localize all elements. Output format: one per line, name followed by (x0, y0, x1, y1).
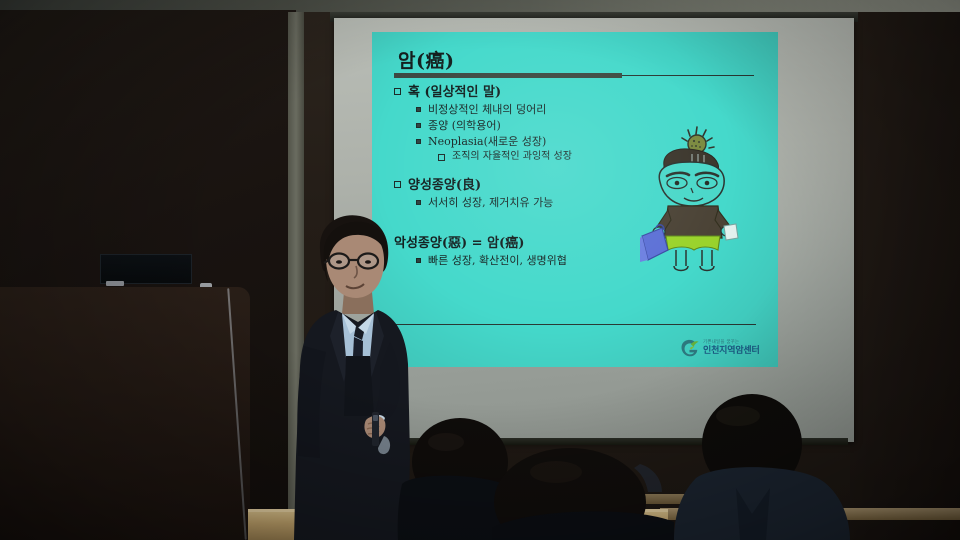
bullet-text: 빠른 성장, 확산전이, 생명위협 (428, 253, 567, 268)
lecture-hall-scene: 암(癌) 혹 (일상적인 말) 비정상적인 체내의 덩어리 종양 (의학용어) … (0, 0, 960, 540)
monitor-label (106, 281, 124, 286)
solid-square-icon (416, 139, 421, 144)
audience-member-3 (674, 392, 864, 540)
title-rule-thick (394, 73, 622, 78)
bullet-item: 비정상적인 체내의 덩어리 (416, 102, 694, 117)
bullet-text: 양성종양(良) (408, 177, 481, 194)
logo-name: 인천지역암센터 (703, 347, 760, 356)
bullet-item: 혹 (일상적인 말) (394, 84, 694, 101)
solid-square-icon (416, 107, 421, 112)
right-wall (850, 12, 960, 540)
projected-slide: 암(癌) 혹 (일상적인 말) 비정상적인 체내의 덩어리 종양 (의학용어) … (372, 32, 778, 367)
audience-member-2 (488, 446, 678, 540)
bullet-text: 조직의 자율적인 과잉적 성장 (452, 150, 572, 164)
title-rule-thin (622, 75, 754, 76)
logo-mark-icon (678, 337, 700, 359)
slide-bottom-rule (394, 324, 756, 325)
lectern-body (0, 287, 250, 540)
bullet-text: 비정상적인 체내의 덩어리 (428, 102, 546, 117)
solid-square-icon (416, 123, 421, 128)
organization-logo: 기쁜내일을 꿈꾸는 인천지역암센터 (678, 333, 770, 363)
bullet-text: 서서히 성장, 제거치유 가능 (428, 195, 553, 210)
solid-square-icon (416, 200, 421, 205)
cartoon-boy-with-lump-illustration (640, 124, 750, 274)
bullet-text: 종양 (의학용어) (428, 118, 501, 133)
bullet-text: 혹 (일상적인 말) (408, 84, 501, 101)
bullet-text: Neoplasia(새로운 성장) (428, 134, 546, 149)
logo-text: 기쁜내일을 꿈꾸는 인천지역암센터 (703, 341, 760, 356)
logo-tagline: 기쁜내일을 꿈꾸는 (703, 341, 760, 346)
lectern-monitor (100, 254, 192, 284)
hollow-square-icon (394, 88, 401, 95)
slide-title: 암(癌) (398, 46, 454, 73)
hollow-square-icon (394, 181, 401, 188)
hollow-square-icon (438, 154, 445, 161)
